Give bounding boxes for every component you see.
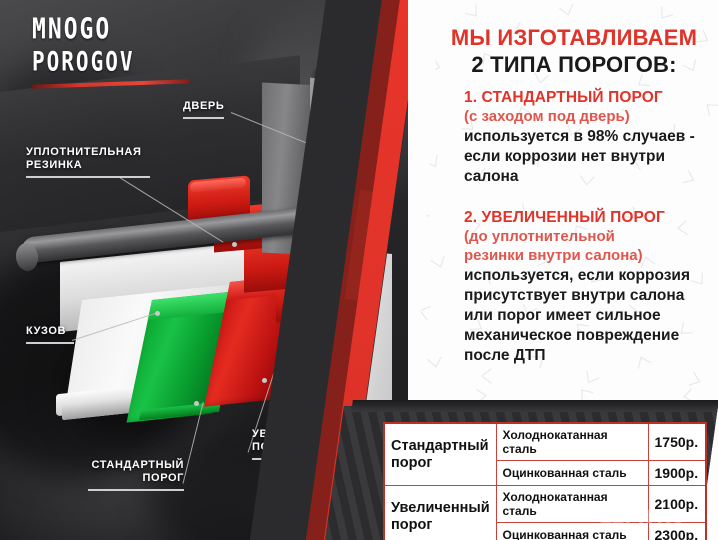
info-block-enlarged-subtitle-line2: резинки внутри салона): [464, 246, 716, 265]
label-door: ДВЕРЬ: [183, 100, 224, 119]
table-row: Увеличенный порог Холоднокатанная сталь …: [384, 486, 706, 523]
brand-logo-line2: POROGOV: [32, 49, 212, 75]
info-block-enlarged-title: 2. УВЕЛИЧЕННЫЙ ПОРОГ: [464, 208, 716, 227]
info-block-standard-subtitle: (с заходом под дверь): [464, 107, 716, 126]
brand-logo-line1: MNOGO: [32, 16, 212, 45]
label-sealing-rubber-line2: РЕЗИНКА: [26, 159, 82, 171]
table-row: Стандартный порог Холоднокатанная сталь …: [384, 423, 706, 461]
info-block-standard-title: 1. СТАНДАРТНЫЙ ПОРОГ: [464, 88, 716, 107]
label-standard-sill-line2: ПОРОГ: [143, 472, 184, 484]
headline-black: 2 ТИПА ПОРОГОВ:: [438, 52, 710, 78]
price-table: Стандартный порог Холоднокатанная сталь …: [383, 422, 707, 540]
label-standard-sill: СТАНДАРТНЫЙ ПОРОГ: [88, 459, 184, 491]
leader-dot-kuzov: [155, 311, 160, 316]
info-block-enlarged-subtitle-line1: (до уплотнительной: [464, 227, 716, 246]
price-category-enlarged: Увеличенный порог: [384, 486, 496, 540]
headline-red: МЫ ИЗГОТАВЛИВАЕМ: [438, 26, 710, 50]
advertisement-image: ДВЕРЬ УПЛОТНИТЕЛЬНАЯ РЕЗИНКА КУЗОВ СТАНД…: [0, 0, 718, 540]
info-block-enlarged-body: используется, если коррозия присутствует…: [464, 266, 716, 366]
price-value: 1900р.: [648, 461, 706, 486]
info-block-enlarged: 2. УВЕЛИЧЕННЫЙ ПОРОГ (до уплотнительной …: [464, 208, 716, 366]
price-table-container: Стандартный порог Холоднокатанная сталь …: [383, 422, 707, 540]
price-category-standard: Стандартный порог: [384, 423, 496, 486]
label-underline: [183, 117, 224, 119]
leader-dot-enlarged: [262, 378, 267, 383]
leader-dot-standard: [194, 401, 199, 406]
bottom-band-top-edge: [351, 400, 718, 412]
label-door-text: ДВЕРЬ: [183, 100, 224, 112]
price-material: Оцинкованная сталь: [496, 461, 648, 486]
brand-logo: MNOGO POROGOV: [32, 16, 212, 86]
leader-dot-rubber: [232, 242, 237, 247]
label-body: КУЗОВ: [26, 325, 74, 344]
price-material: Оцинкованная сталь: [496, 523, 648, 540]
label-standard-sill-line1: СТАНДАРТНЫЙ: [92, 459, 185, 471]
label-underline: [26, 176, 150, 178]
price-value: 2300р.: [648, 523, 706, 540]
price-value: 2100р.: [648, 486, 706, 523]
label-sealing-rubber: УПЛОТНИТЕЛЬНАЯ РЕЗИНКА: [26, 146, 150, 178]
headline: МЫ ИЗГОТАВЛИВАЕМ 2 ТИПА ПОРОГОВ:: [438, 26, 710, 78]
price-material: Холоднокатанная сталь: [496, 423, 648, 461]
info-block-standard: 1. СТАНДАРТНЫЙ ПОРОГ (с заходом под двер…: [464, 88, 716, 187]
label-body-text: КУЗОВ: [26, 325, 66, 337]
label-underline: [88, 489, 184, 491]
label-sealing-rubber-line1: УПЛОТНИТЕЛЬНАЯ: [26, 146, 141, 158]
label-underline: [26, 342, 74, 344]
price-value: 1750р.: [648, 423, 706, 461]
info-block-standard-body: используется в 98% случаев - если корроз…: [464, 127, 716, 187]
price-material: Холоднокатанная сталь: [496, 486, 648, 523]
